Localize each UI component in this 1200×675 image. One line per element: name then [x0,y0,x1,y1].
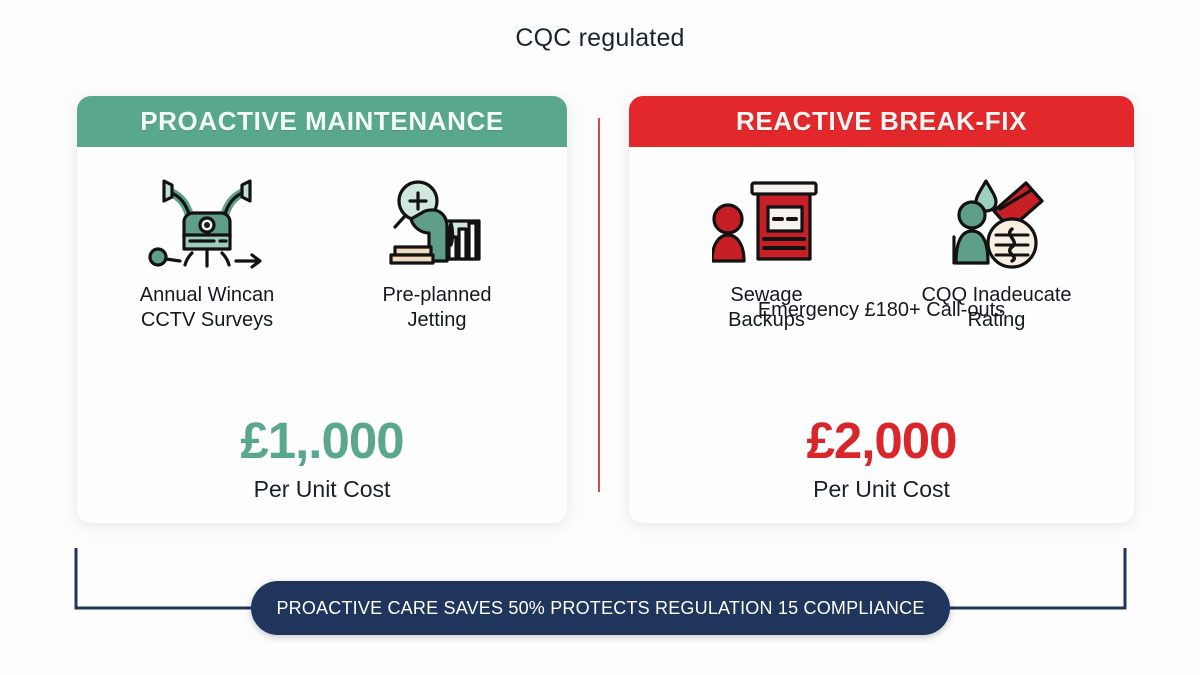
price-label: Per Unit Cost [629,476,1134,503]
card-body-proactive: Annual Wincan CCTV Surveys [77,147,567,523]
cctv-crawler-robot-icon [112,169,302,273]
price-block-reactive: £2,000 Per Unit Cost [629,415,1134,503]
feature-pre-planned-jetting: Pre-planned Jetting [342,169,532,333]
card-reactive-break-fix: REACTIVE BREAK-FIX [629,96,1134,523]
magnifier-plus-chart-icon [342,169,532,273]
infographic-canvas: CQC regulated PROACTIVE MAINTENANCE [0,0,1200,675]
page-title: CQC regulated [0,24,1200,53]
price-block-proactive: £1,.000 Per Unit Cost [77,415,567,503]
vertical-divider [598,118,600,492]
feature-caption: Pre-planned Jetting [342,283,532,333]
feature-annual-wincan-cctv-surveys: Annual Wincan CCTV Surveys [112,169,302,333]
card-header-reactive: REACTIVE BREAK-FIX [629,96,1134,147]
price-label: Per Unit Cost [77,476,567,503]
icon-row-proactive: Annual Wincan CCTV Surveys [77,147,567,333]
price-value: £1,.000 [77,415,567,466]
summary-banner: PROACTIVE CARE SAVES 50% PROTECTS REGULA… [251,581,950,635]
card-header-proactive: PROACTIVE MAINTENANCE [77,96,567,147]
person-water-drop-rating-icon [902,169,1092,273]
card-proactive-maintenance: PROACTIVE MAINTENANCE [77,96,567,523]
emergency-callouts-caption: Emergency £180+ Call-outs [629,299,1134,322]
price-value: £2,000 [629,415,1134,466]
card-body-reactive: Sewage Backups [629,147,1134,523]
feature-caption: Annual Wincan CCTV Surveys [112,283,302,333]
person-emergency-machine-icon [672,169,862,273]
